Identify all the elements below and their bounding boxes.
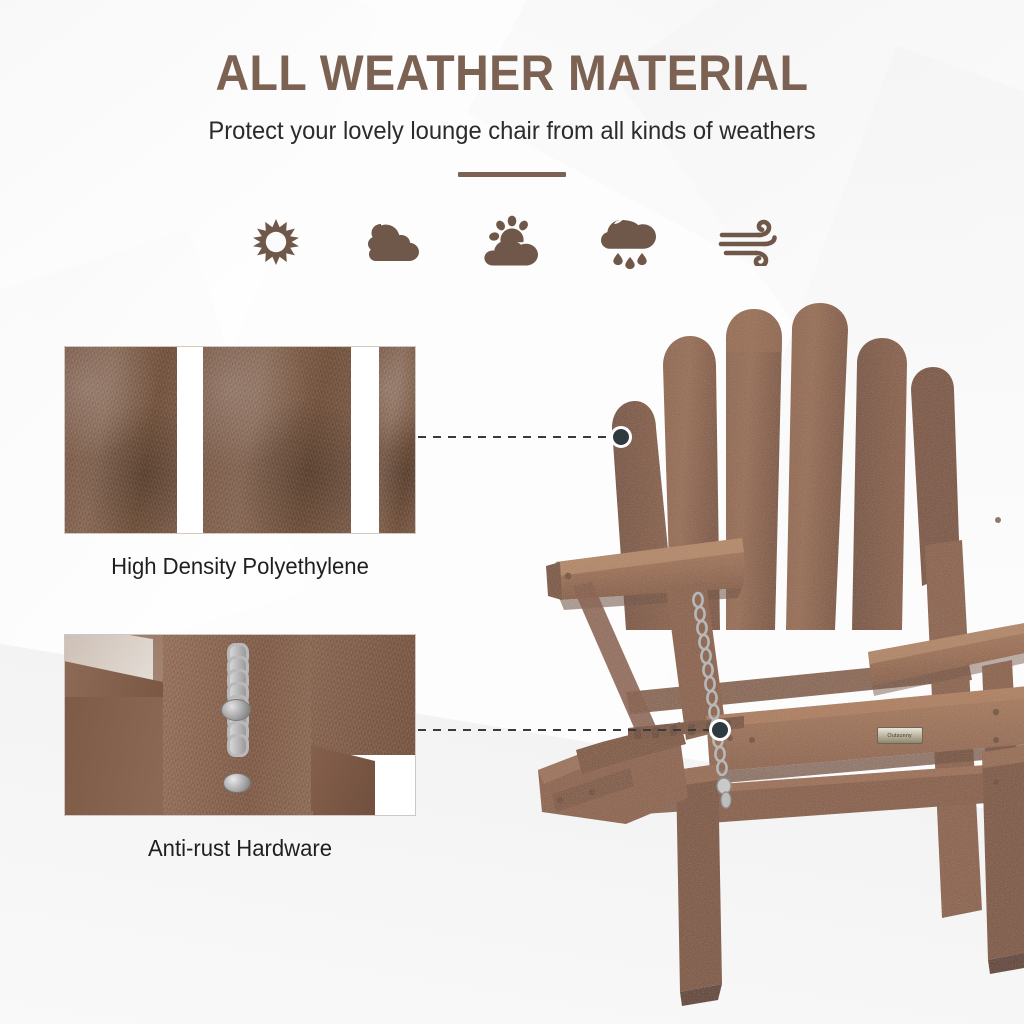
feature-caption-hardware: Anti-rust Hardware bbox=[71, 835, 409, 862]
material-callout-line bbox=[418, 436, 614, 438]
feature-panel-material: High Density Polyethylene bbox=[64, 346, 416, 580]
sun-icon bbox=[242, 208, 310, 276]
brand-plaque: Outsunny bbox=[877, 727, 923, 744]
page-subtitle: Protect your lovely lounge chair from al… bbox=[26, 100, 999, 146]
feature-panel-hardware: Anti-rust Hardware bbox=[64, 634, 416, 862]
hardware-closeup-image bbox=[64, 634, 416, 816]
title-divider bbox=[458, 172, 566, 177]
material-callout-dot bbox=[610, 426, 632, 448]
cloudy-icon bbox=[360, 208, 428, 276]
wind-icon bbox=[714, 208, 782, 276]
rain-icon bbox=[596, 208, 664, 276]
material-closeup-image bbox=[64, 346, 416, 534]
adirondack-chair-image bbox=[530, 300, 1024, 1024]
weather-icon-strip bbox=[0, 208, 1024, 276]
marketing-image-canvas: ALL WEATHER MATERIAL Protect your lovely… bbox=[0, 0, 1024, 1024]
page-title: ALL WEATHER MATERIAL bbox=[36, 0, 988, 100]
header: ALL WEATHER MATERIAL Protect your lovely… bbox=[0, 0, 1024, 177]
hardware-callout-line bbox=[418, 729, 714, 731]
brand-plaque-label: Outsunny bbox=[888, 733, 913, 738]
hardware-callout-dot bbox=[709, 719, 731, 741]
feature-caption-material: High Density Polyethylene bbox=[71, 553, 409, 580]
partly-cloudy-icon bbox=[478, 208, 546, 276]
